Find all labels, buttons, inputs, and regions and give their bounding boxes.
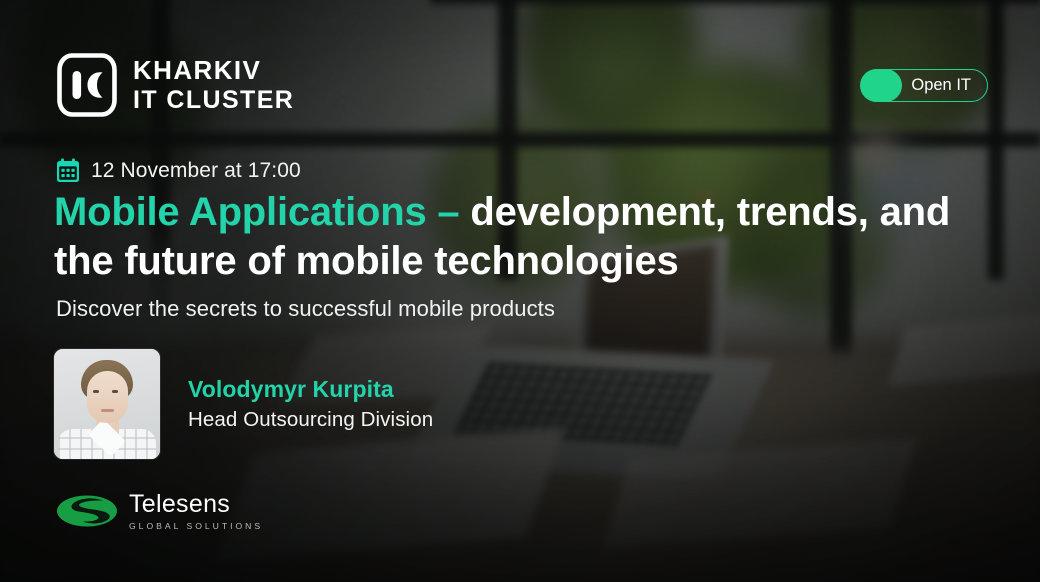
telesens-logo[interactable]: Telesens GLOBAL SOLUTIONS: [56, 492, 263, 531]
event-datetime: 12 November at 17:00: [91, 159, 301, 183]
banner-content: KHARKIV IT CLUSTER Open IT: [0, 0, 1040, 582]
telesens-name: Telesens: [129, 492, 263, 517]
avatar-face: [87, 371, 128, 423]
logo-line-1: KHARKIV: [133, 57, 294, 84]
open-it-label: Open IT: [911, 76, 971, 95]
status-dot-icon: [860, 69, 902, 102]
event-datetime-row: 12 November at 17:00: [56, 158, 301, 183]
calendar-icon: [56, 158, 80, 183]
page-title: Mobile Applications – development, trend…: [54, 188, 1004, 286]
avatar-eye: [112, 390, 118, 393]
open-it-badge[interactable]: Open IT: [861, 69, 988, 102]
telesens-swoosh-icon: [56, 494, 118, 528]
avatar-mouth: [101, 409, 114, 412]
avatar-eye: [93, 390, 99, 393]
logo-wordmark: KHARKIV IT CLUSTER: [133, 57, 294, 113]
telesens-wordmark: Telesens GLOBAL SOLUTIONS: [129, 492, 263, 531]
page-subtitle: Discover the secrets to successful mobil…: [56, 296, 555, 322]
speaker-block: Volodymyr Kurpita Head Outsourcing Divis…: [54, 349, 433, 459]
speaker-role: Head Outsourcing Division: [188, 408, 433, 432]
logo-line-2: IT CLUSTER: [133, 87, 294, 113]
avatar: [54, 349, 160, 459]
telesens-tagline: GLOBAL SOLUTIONS: [129, 522, 263, 531]
speaker-name: Volodymyr Kurpita: [188, 376, 433, 403]
speaker-details: Volodymyr Kurpita Head Outsourcing Divis…: [188, 376, 433, 432]
kharkiv-it-cluster-mark-icon: [56, 52, 118, 118]
banner-stage: KHARKIV IT CLUSTER Open IT: [0, 0, 1040, 582]
page-title-accent: Mobile Applications –: [54, 190, 459, 234]
kharkiv-it-cluster-logo[interactable]: KHARKIV IT CLUSTER: [56, 52, 294, 118]
